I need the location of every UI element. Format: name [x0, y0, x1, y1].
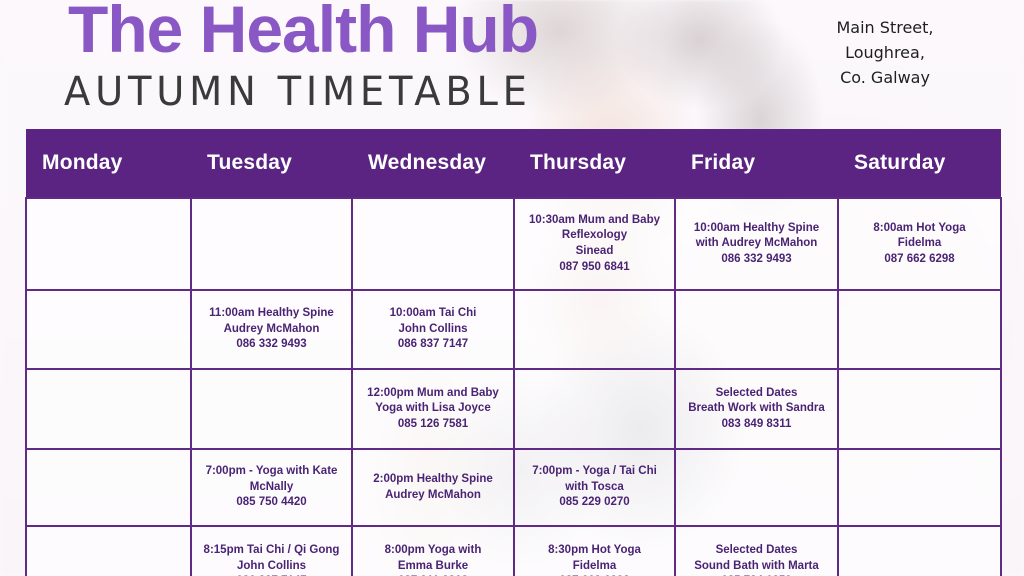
- empty-cell-thursday-3: [514, 369, 675, 449]
- class-line: 2:00pm Healthy Spine: [359, 472, 507, 488]
- class-cell-friday-5: Selected DatesSound Bath with Marta085 7…: [675, 526, 838, 576]
- class-cell-tuesday-5: 8:15pm Tai Chi / Qi GongJohn Collins086 …: [191, 526, 352, 576]
- class-line: 086 332 9493: [198, 337, 345, 353]
- empty-cell-friday-4: [675, 449, 838, 526]
- class-line: 11:00am Healthy Spine: [198, 306, 345, 322]
- class-line: John Collins: [198, 559, 345, 575]
- class-cell-saturday-1: 8:00am Hot YogaFidelma087 662 6298: [838, 198, 1001, 290]
- class-line: John Collins: [359, 322, 507, 338]
- class-line: Sound Bath with Marta: [682, 559, 831, 575]
- masthead: The Health Hub AUTUMN TIMETABLE Main Str…: [0, 0, 1024, 128]
- class-line: 8:00am Hot Yoga: [845, 221, 994, 237]
- day-header-monday: Monday: [26, 129, 191, 198]
- class-cell-wednesday-5: 8:00pm Yoga withEmma Burke087 911 3368: [352, 526, 514, 576]
- day-header-tuesday: Tuesday: [191, 129, 352, 198]
- class-line: 7:00pm - Yoga / Tai Chi: [521, 464, 668, 480]
- class-line: Selected Dates: [682, 543, 831, 559]
- class-cell-wednesday-2: 10:00am Tai ChiJohn Collins086 837 7147: [352, 290, 514, 369]
- timetable-body: 10:30am Mum and BabyReflexologySinead087…: [26, 198, 1001, 576]
- class-line: with Tosca: [521, 480, 668, 496]
- class-cell-friday-1: 10:00am Healthy Spinewith Audrey McMahon…: [675, 198, 838, 290]
- class-line: Audrey McMahon: [359, 488, 507, 504]
- class-line: 10:30am Mum and Baby: [521, 213, 668, 229]
- empty-cell-friday-2: [675, 290, 838, 369]
- class-line: Fidelma: [521, 559, 668, 575]
- weekly-timetable: Monday Tuesday Wednesday Thursday Friday…: [25, 129, 1002, 576]
- address-line-1: Main Street,: [790, 16, 980, 41]
- table-row: 7:00pm - Yoga with KateMcNally085 750 44…: [26, 449, 1001, 526]
- table-row: 8:15pm Tai Chi / Qi GongJohn Collins086 …: [26, 526, 1001, 576]
- empty-cell-monday-5: [26, 526, 191, 576]
- class-line: 085 126 7581: [359, 417, 507, 433]
- class-line: 10:00am Tai Chi: [359, 306, 507, 322]
- class-line: 085 229 0270: [521, 495, 668, 511]
- table-row: 11:00am Healthy SpineAudrey McMahon086 3…: [26, 290, 1001, 369]
- empty-cell-thursday-2: [514, 290, 675, 369]
- class-line: 086 837 7147: [359, 337, 507, 353]
- class-line: 8:00pm Yoga with: [359, 543, 507, 559]
- class-line: Reflexology: [521, 228, 668, 244]
- class-cell-wednesday-3: 12:00pm Mum and BabyYoga with Lisa Joyce…: [352, 369, 514, 449]
- day-header-saturday: Saturday: [838, 129, 1001, 198]
- empty-cell-monday-2: [26, 290, 191, 369]
- class-line: 10:00am Healthy Spine: [682, 221, 831, 237]
- class-line: Fidelma: [845, 236, 994, 252]
- class-cell-thursday-1: 10:30am Mum and BabyReflexologySinead087…: [514, 198, 675, 290]
- class-line: Emma Burke: [359, 559, 507, 575]
- class-cell-thursday-4: 7:00pm - Yoga / Tai Chiwith Tosca085 229…: [514, 449, 675, 526]
- class-cell-wednesday-4: 2:00pm Healthy SpineAudrey McMahon: [352, 449, 514, 526]
- empty-cell-saturday-3: [838, 369, 1001, 449]
- empty-cell-monday-4: [26, 449, 191, 526]
- class-line: 12:00pm Mum and Baby: [359, 386, 507, 402]
- class-cell-friday-3: Selected DatesBreath Work with Sandra083…: [675, 369, 838, 449]
- table-row: 10:30am Mum and BabyReflexologySinead087…: [26, 198, 1001, 290]
- class-cell-tuesday-2: 11:00am Healthy SpineAudrey McMahon086 3…: [191, 290, 352, 369]
- empty-cell-saturday-5: [838, 526, 1001, 576]
- class-cell-tuesday-4: 7:00pm - Yoga with KateMcNally085 750 44…: [191, 449, 352, 526]
- class-line: Selected Dates: [682, 386, 831, 402]
- address-block: Main Street, Loughrea, Co. Galway: [790, 16, 980, 90]
- class-line: 7:00pm - Yoga with Kate: [198, 464, 345, 480]
- empty-cell-saturday-2: [838, 290, 1001, 369]
- timetable-poster: The Health Hub AUTUMN TIMETABLE Main Str…: [0, 0, 1024, 576]
- class-line: 087 662 6298: [845, 252, 994, 268]
- day-header-friday: Friday: [675, 129, 838, 198]
- address-line-3: Co. Galway: [790, 66, 980, 91]
- class-line: 085 750 4420: [198, 495, 345, 511]
- class-line: 8:30pm Hot Yoga: [521, 543, 668, 559]
- class-line: with Audrey McMahon: [682, 236, 831, 252]
- table-row: 12:00pm Mum and BabyYoga with Lisa Joyce…: [26, 369, 1001, 449]
- day-header-wednesday: Wednesday: [352, 129, 514, 198]
- class-line: Yoga with Lisa Joyce: [359, 401, 507, 417]
- empty-cell-tuesday-3: [191, 369, 352, 449]
- class-line: Audrey McMahon: [198, 322, 345, 338]
- timetable-header-row: Monday Tuesday Wednesday Thursday Friday…: [26, 129, 1001, 198]
- brand-title: The Health Hub: [68, 0, 538, 62]
- empty-cell-tuesday-1: [191, 198, 352, 290]
- class-cell-thursday-5: 8:30pm Hot YogaFidelma087 662 6298: [514, 526, 675, 576]
- class-line: 087 950 6841: [521, 260, 668, 276]
- page-subtitle: AUTUMN TIMETABLE: [64, 72, 532, 112]
- class-line: Breath Work with Sandra: [682, 401, 831, 417]
- class-line: 086 332 9493: [682, 252, 831, 268]
- class-line: 083 849 8311: [682, 417, 831, 433]
- class-line: McNally: [198, 480, 345, 496]
- empty-cell-saturday-4: [838, 449, 1001, 526]
- class-line: 8:15pm Tai Chi / Qi Gong: [198, 543, 345, 559]
- class-line: Sinead: [521, 244, 668, 260]
- day-header-thursday: Thursday: [514, 129, 675, 198]
- address-line-2: Loughrea,: [790, 41, 980, 66]
- empty-cell-monday-3: [26, 369, 191, 449]
- empty-cell-monday-1: [26, 198, 191, 290]
- empty-cell-wednesday-1: [352, 198, 514, 290]
